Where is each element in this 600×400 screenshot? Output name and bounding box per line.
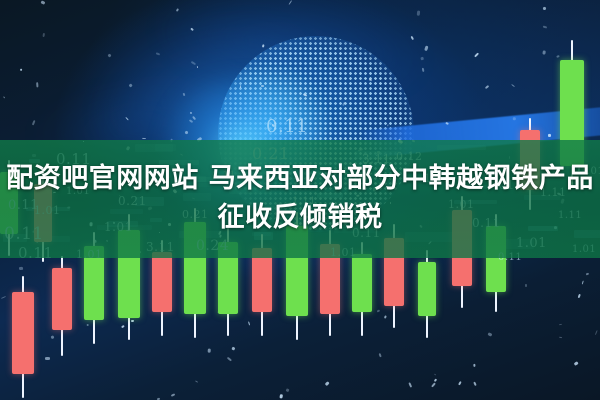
candlestick-down [52,256,72,356]
candle-body [12,292,34,374]
candlestick-up [418,250,436,338]
candlestick-down [12,276,34,398]
candle-body [352,254,372,312]
particle [20,69,22,71]
headline-line-2: 征收反倾销税 [218,201,383,236]
candle-body [418,262,436,316]
particle [512,117,515,120]
particle [422,68,425,73]
particle [473,363,475,366]
particle [19,267,23,270]
price-number: 0.11 [266,116,308,137]
particle [240,84,242,87]
particle [262,44,265,47]
particle [36,83,38,88]
headline-line-1: 配资吧官网网站 马来西亚对部分中韩越钢铁产品 [6,162,593,197]
headline-block: 配资吧官网网站 马来西亚对部分中韩越钢铁产品 征收反倾销税 [0,140,600,258]
candle-body [152,252,172,312]
particle [542,50,545,55]
particle [548,133,551,136]
candle-body [52,268,72,330]
particle [45,357,49,360]
news-banner: 0.110.110.110.111.011.011.011.010.210.21… [0,0,600,400]
